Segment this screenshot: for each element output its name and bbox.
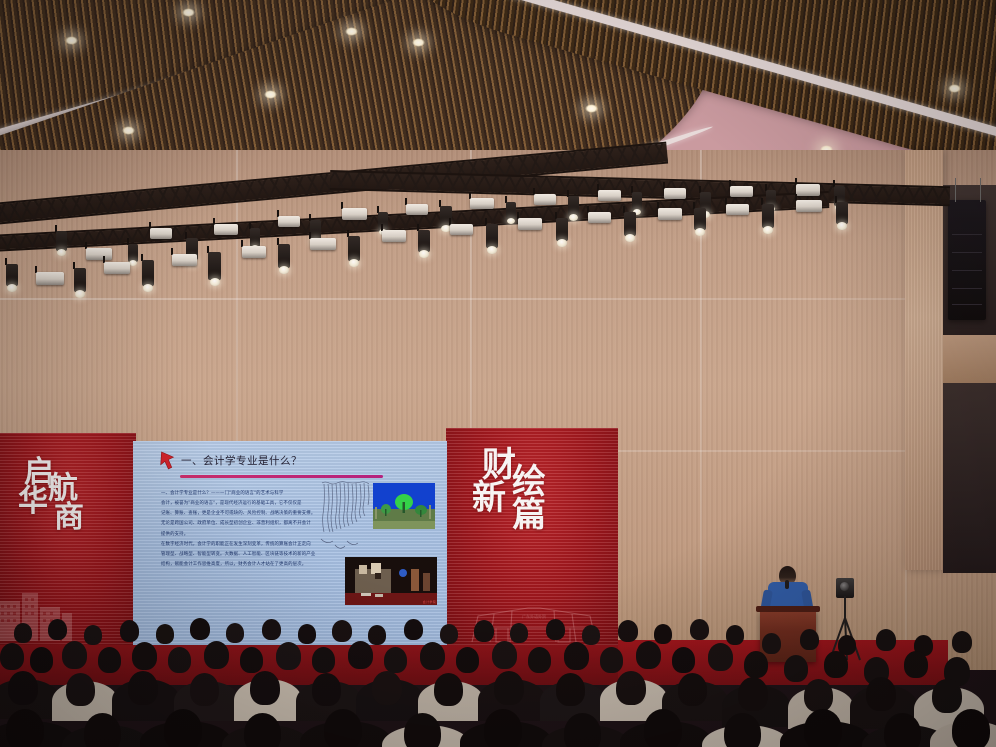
audience-head bbox=[744, 651, 768, 678]
audience-head bbox=[800, 629, 819, 650]
audience-head bbox=[332, 620, 352, 642]
audience-head bbox=[156, 624, 174, 644]
audience-head bbox=[98, 647, 121, 673]
audience-head bbox=[404, 713, 441, 747]
audience-head bbox=[804, 679, 833, 712]
left-banner: 启 航 华 商 bbox=[0, 433, 136, 645]
downlight bbox=[412, 38, 425, 47]
audience-head bbox=[528, 647, 551, 673]
auditorium-photo: 启 航 华 商 bbox=[0, 0, 996, 747]
audience-head bbox=[672, 647, 695, 673]
audience-head bbox=[456, 647, 479, 673]
audience-head bbox=[348, 641, 373, 669]
audience-head bbox=[0, 643, 24, 670]
audience-head bbox=[564, 642, 589, 670]
audience-head bbox=[510, 623, 528, 643]
camera-lens-icon bbox=[840, 582, 849, 591]
audience-head bbox=[298, 624, 316, 644]
audience-head bbox=[904, 651, 928, 678]
speaker-rigging-wire bbox=[980, 178, 981, 202]
podium-top-surface bbox=[756, 606, 820, 612]
red-arrow-pointer-icon bbox=[159, 451, 176, 470]
audience-head bbox=[14, 623, 32, 643]
audience-head bbox=[190, 618, 210, 640]
audience-head bbox=[30, 647, 53, 673]
downlight bbox=[264, 90, 277, 99]
downlight bbox=[948, 84, 961, 93]
wall-niche-band bbox=[943, 335, 996, 383]
downlight bbox=[122, 126, 135, 135]
downlight bbox=[345, 27, 358, 36]
audience-head bbox=[62, 641, 87, 669]
photo-watermark: 会计学院 bbox=[423, 600, 436, 604]
sketch-illustration bbox=[319, 479, 375, 557]
audience-head bbox=[690, 619, 709, 640]
audience-head bbox=[474, 620, 494, 642]
audience-head bbox=[226, 623, 244, 643]
audience-head bbox=[128, 671, 158, 705]
wall-pillar bbox=[905, 150, 943, 570]
audience-head bbox=[434, 673, 463, 706]
audience-head bbox=[312, 673, 341, 706]
audience-head bbox=[866, 677, 896, 711]
audience-head bbox=[724, 713, 761, 747]
audience-head bbox=[876, 629, 896, 651]
audience-head bbox=[618, 620, 638, 642]
audience-head bbox=[492, 641, 517, 669]
audience-head bbox=[616, 671, 646, 705]
audience-head bbox=[600, 647, 623, 673]
slide-body-text: 一、会计学专业是什么？——一门"商业的语言"的艺术与科学 会计，被誉为"商业的语… bbox=[161, 490, 319, 571]
audience-head bbox=[250, 671, 280, 705]
audience-head bbox=[244, 713, 281, 747]
audience-head bbox=[952, 631, 972, 653]
audience-head bbox=[384, 647, 407, 673]
audience-head bbox=[262, 619, 281, 640]
audience-head bbox=[204, 641, 229, 669]
audience-head bbox=[762, 633, 781, 654]
audience-head bbox=[494, 671, 524, 705]
audience-head bbox=[636, 641, 661, 669]
audience-head bbox=[824, 651, 848, 678]
slide-title-row: 一、会计学专业是什么？ bbox=[159, 451, 302, 470]
audience-head bbox=[6, 709, 44, 747]
audience-head bbox=[804, 709, 842, 747]
downlight bbox=[182, 8, 195, 17]
audience-head bbox=[324, 709, 362, 747]
microphone bbox=[785, 580, 789, 589]
audience-head bbox=[420, 642, 445, 670]
audience-head bbox=[84, 713, 121, 747]
audience-head bbox=[168, 647, 191, 673]
audience-head bbox=[312, 647, 335, 673]
line-array-speaker bbox=[948, 200, 986, 320]
audience-head bbox=[276, 642, 301, 670]
wall-seam bbox=[0, 298, 996, 300]
audience-head bbox=[582, 625, 600, 645]
wall-niche bbox=[943, 383, 996, 573]
audience-head bbox=[48, 619, 67, 640]
title-underline bbox=[180, 475, 383, 478]
audience bbox=[0, 617, 996, 747]
audience-head bbox=[8, 671, 38, 705]
audience-head bbox=[484, 709, 522, 747]
audience-head bbox=[726, 625, 744, 645]
audience-head bbox=[164, 709, 202, 747]
downlight bbox=[65, 36, 78, 45]
right-banner-calligraphy: 财 绘 新 篇 bbox=[466, 450, 546, 531]
audience-head bbox=[884, 713, 921, 747]
slide-title: 一、会计学专业是什么？ bbox=[181, 453, 302, 468]
audience-head bbox=[708, 643, 733, 671]
audience-head bbox=[644, 709, 682, 747]
audience-head bbox=[240, 647, 263, 673]
interior-photo: 会计学院 bbox=[345, 557, 437, 605]
audience-head bbox=[556, 673, 585, 706]
audience-head bbox=[784, 655, 808, 682]
audience-head bbox=[564, 713, 601, 747]
audience-head bbox=[678, 673, 707, 706]
audience-head bbox=[132, 642, 157, 670]
audience-head bbox=[66, 673, 95, 706]
audience-head bbox=[654, 624, 672, 644]
audience-head bbox=[440, 624, 458, 644]
audience-head bbox=[372, 671, 402, 705]
speaker-rigging-wire bbox=[955, 178, 956, 202]
audience-head bbox=[120, 620, 139, 642]
audience-head bbox=[932, 679, 962, 713]
audience-head bbox=[952, 709, 990, 747]
audience-head bbox=[368, 625, 386, 645]
audience-head bbox=[84, 625, 102, 645]
left-banner-calligraphy: 启 航 华 商 bbox=[14, 459, 84, 531]
downlight bbox=[585, 104, 598, 113]
garden-photo bbox=[373, 483, 435, 529]
audience-head bbox=[190, 673, 219, 706]
audience-head bbox=[404, 619, 423, 640]
audience-head bbox=[738, 677, 768, 711]
audience-head bbox=[546, 619, 565, 640]
